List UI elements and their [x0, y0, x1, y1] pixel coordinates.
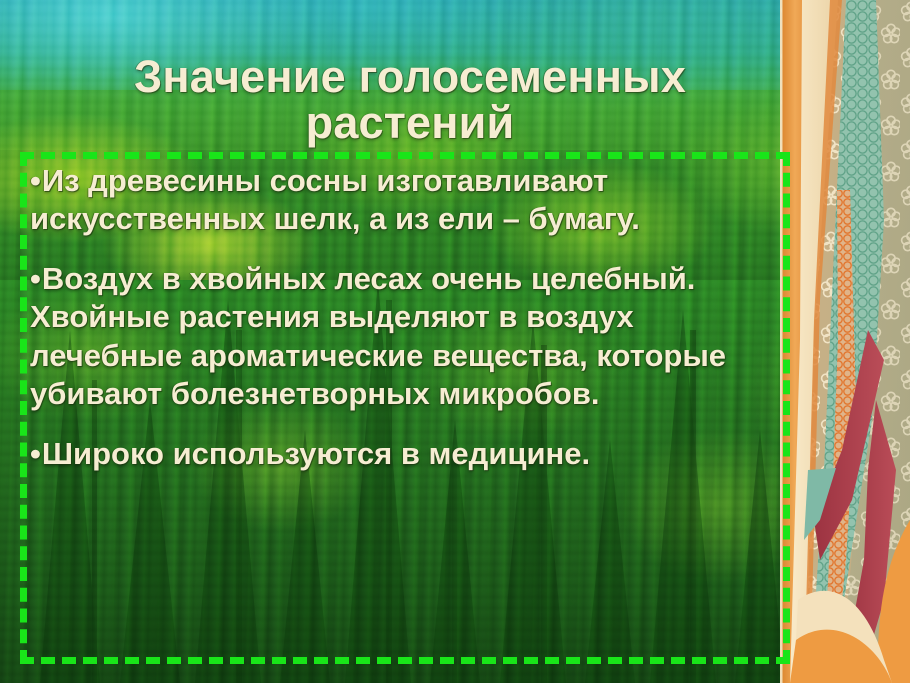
- list-item: •Из древесины сосны изготавливают искусс…: [30, 162, 778, 238]
- bullet-marker: •: [30, 163, 41, 198]
- list-item: •Воздух в хвойных лесах очень целебный. …: [30, 260, 778, 413]
- bullet-marker: •: [30, 436, 41, 471]
- slide-canvas: Значение голосеменных растений •Из древе…: [0, 0, 910, 683]
- bullet-text: Из древесины сосны изготавливают искусст…: [30, 163, 640, 236]
- list-item: •Широко используются в медицине.: [30, 435, 778, 473]
- slide-title: Значение голосеменных растений: [60, 54, 760, 147]
- bullet-marker: •: [30, 261, 41, 296]
- bullet-text: Воздух в хвойных лесах очень целебный. Х…: [30, 261, 726, 410]
- bullet-list: •Из древесины сосны изготавливают искусс…: [30, 162, 778, 473]
- bullet-text: Широко используются в медицине.: [42, 436, 590, 471]
- floral-side-border: [780, 0, 910, 683]
